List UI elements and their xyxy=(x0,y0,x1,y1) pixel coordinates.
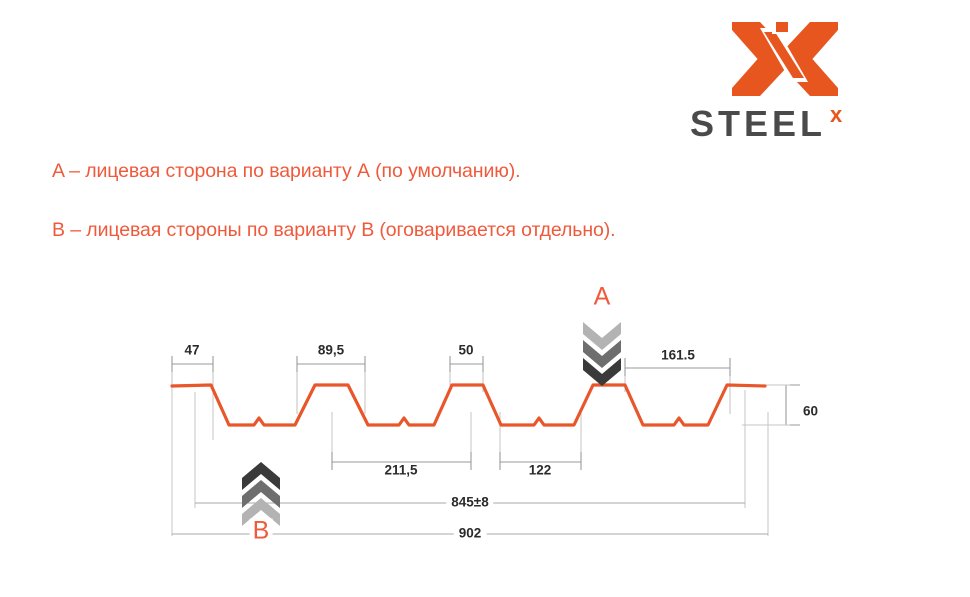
dim-label-902: 902 xyxy=(454,526,487,540)
dim-label-50: 50 xyxy=(453,343,478,357)
top-dimension-lines xyxy=(172,364,730,368)
marker-a-chevrons xyxy=(583,322,621,386)
top-dimension-ticks xyxy=(172,356,730,376)
dim-label-161-5: 161.5 xyxy=(656,348,700,362)
dim-label-89-5: 89,5 xyxy=(313,343,349,357)
diagram-page: STEEL x A – лицевая сторона по варианту … xyxy=(0,0,970,597)
marker-a-letter: A xyxy=(591,285,614,310)
dim-label-211-5: 211,5 xyxy=(379,463,422,477)
dim-label-845: 845±8 xyxy=(446,495,493,509)
marker-b-letter: B xyxy=(250,519,273,544)
height-extension-lines xyxy=(742,385,790,425)
dim-label-60: 60 xyxy=(798,404,823,418)
dim-label-47: 47 xyxy=(179,343,204,357)
dim-label-122: 122 xyxy=(524,463,557,477)
corrugated-profile-path xyxy=(172,385,765,425)
